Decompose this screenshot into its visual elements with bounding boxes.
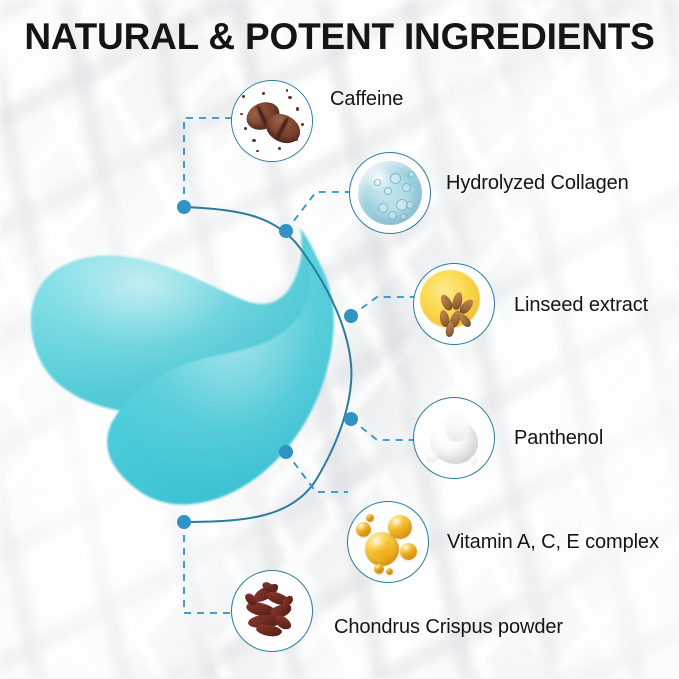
ingredient-label-panthenol: Panthenol [514, 427, 603, 450]
node-dot-caffeine [177, 200, 191, 214]
leader-line-chondrus [184, 522, 232, 613]
main-arc-line [184, 207, 351, 522]
collagen-droplet-icon [350, 153, 430, 233]
ingredient-label-caffeine: Caffeine [330, 88, 403, 111]
coffee-beans-icon [232, 81, 312, 161]
ingredient-circle-linseed [413, 263, 495, 345]
leader-line-panthenol [351, 419, 420, 440]
red-seaweed-icon [232, 571, 312, 651]
ingredient-label-linseed: Linseed extract [514, 294, 648, 317]
leader-line-collagen [286, 192, 350, 231]
node-dot-linseed [344, 309, 358, 323]
ingredient-label-chondrus: Chondrus Crispus powder [334, 616, 563, 639]
ingredient-circle-chondrus [231, 570, 313, 652]
node-dot-panthenol [344, 412, 358, 426]
node-dot-chondrus [177, 515, 191, 529]
ingredient-circle-caffeine [231, 80, 313, 162]
ingredient-label-collagen: Hydrolyzed Collagen [446, 172, 629, 195]
leader-line-linseed [351, 297, 420, 316]
node-dot-collagen [279, 224, 293, 238]
node-dot-vitamins [279, 445, 293, 459]
leader-line-caffeine [184, 118, 232, 207]
ingredients-infographic: NATURAL & POTENT INGREDIENTS [0, 0, 679, 679]
ingredient-circle-collagen [349, 152, 431, 234]
oil-bubbles-icon [348, 502, 428, 582]
linseed-oil-icon [414, 264, 494, 344]
ingredient-circle-panthenol [413, 397, 495, 479]
leader-line-vitamins [286, 452, 348, 492]
cream-swirl-icon [414, 398, 494, 478]
ingredient-circle-vitamins [347, 501, 429, 583]
ingredient-label-vitamins: Vitamin A, C, E complex [447, 531, 659, 554]
